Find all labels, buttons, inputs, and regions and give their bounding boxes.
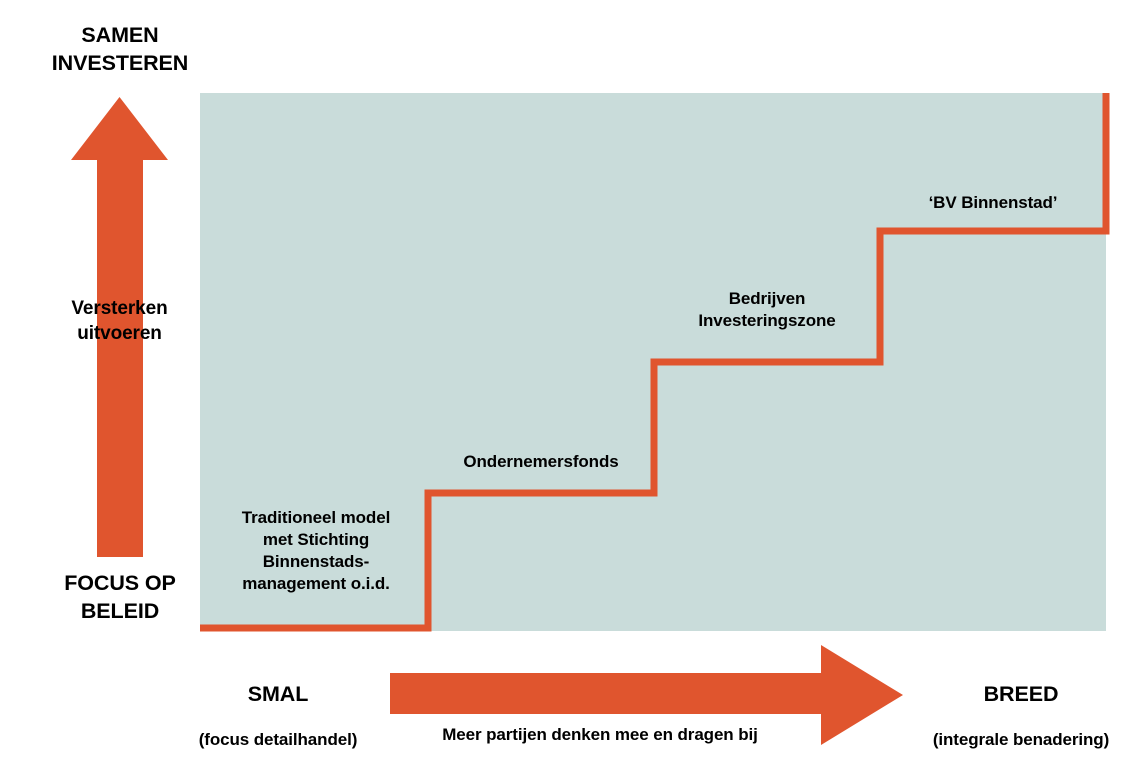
x-axis-right-label: BREED (integrale benadering): [912, 660, 1130, 751]
y-axis-middle-label: Versterken uitvoeren: [12, 297, 227, 346]
x-axis-caption: Meer partijen denken mee en dragen bij: [330, 725, 870, 746]
step-label-bv-binnenstad: ‘BV Binnenstad’: [880, 193, 1106, 214]
y-axis-bottom-label: FOCUS OP BELEID: [10, 570, 230, 625]
x-axis-left-primary: SMAL: [178, 681, 378, 708]
step-label-ondernemersfonds: Ondernemersfonds: [428, 452, 654, 473]
diagram-graphics: [0, 0, 1132, 770]
y-axis-top-label: SAMEN INVESTEREN: [10, 22, 230, 77]
x-axis-right-secondary: (integrale benadering): [933, 730, 1109, 749]
x-axis-right-primary: BREED: [912, 681, 1130, 708]
step-label-traditioneel-model: Traditioneel model met Stichting Binnens…: [204, 507, 428, 595]
diagram-canvas: SAMEN INVESTEREN Versterken uitvoeren FO…: [0, 0, 1132, 770]
step-label-bedrijven-investeringszone: Bedrijven Investeringszone: [654, 288, 880, 332]
